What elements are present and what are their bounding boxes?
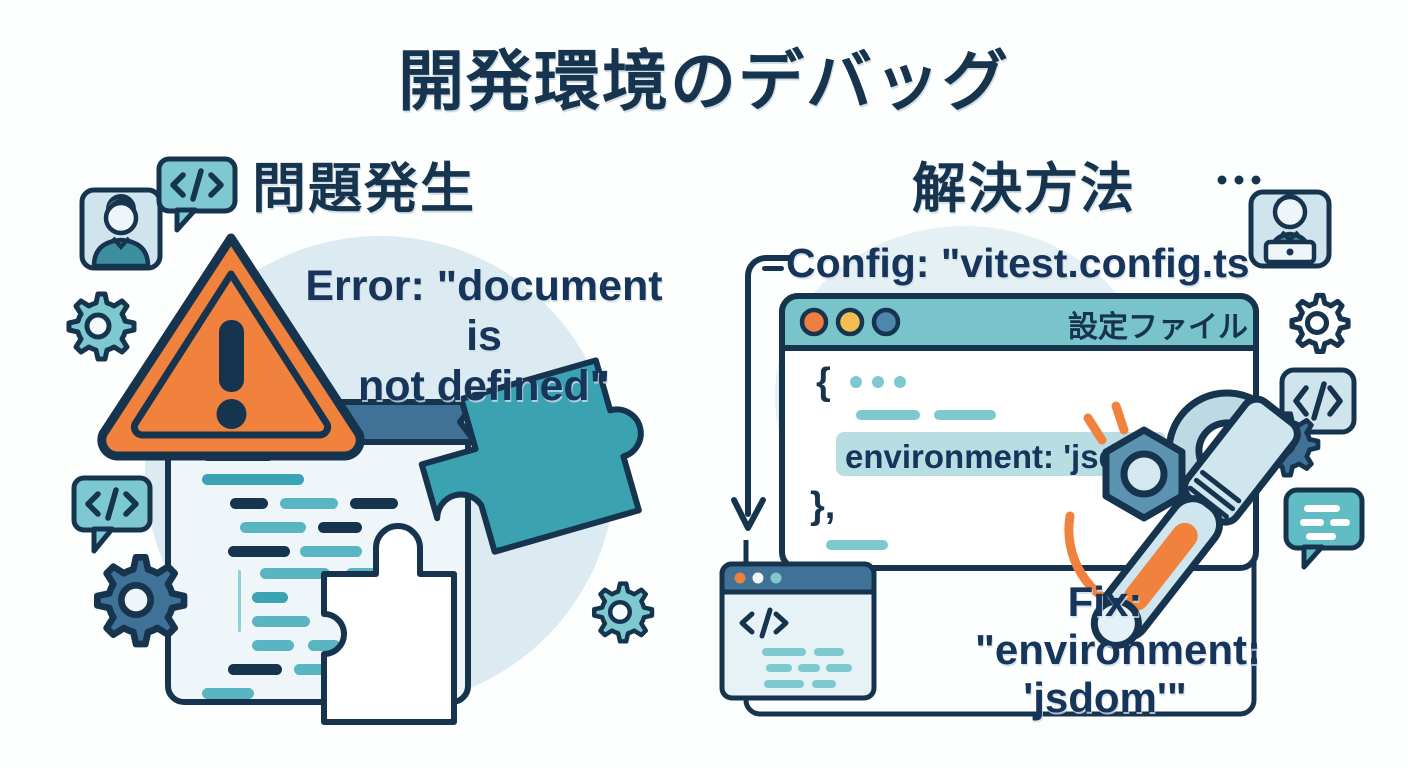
code-speech-bubble-icon — [155, 155, 239, 235]
traffic-light-white[interactable] — [753, 573, 764, 584]
svg-text:},: }, — [810, 485, 835, 527]
config-callout-text: Config: "vitest.config.ts" — [786, 240, 1269, 288]
gear-icon — [1286, 292, 1348, 354]
page-title: 開発環境のデバッグ — [0, 28, 1408, 124]
code-speech-bubble-icon — [70, 474, 154, 556]
error-callout-text: Error: "document is not defined" — [296, 262, 672, 412]
fix-callout-text: Fix: "environment: 'jsdom'" — [975, 578, 1235, 722]
editor-window-title: 設定ファイル — [1068, 302, 1248, 346]
bolt-nut-icon — [1106, 430, 1182, 518]
ellipsis-icon — [1216, 172, 1262, 188]
developer-laptop-avatar-icon — [1246, 180, 1334, 270]
traffic-light-teal[interactable] — [771, 573, 782, 584]
svg-text:{: { — [816, 361, 831, 403]
gear-icon — [588, 580, 652, 644]
section-heading-solution: 解決方法 — [912, 144, 1136, 223]
config-dash — [762, 266, 784, 271]
traffic-light-red[interactable] — [735, 573, 746, 584]
traffic-light-blue[interactable] — [874, 310, 898, 334]
infographic-canvas: 開発環境のデバッグ 問題発生 解決方法 — [0, 0, 1408, 768]
gear-icon — [62, 290, 134, 362]
traffic-light-yellow[interactable] — [838, 310, 862, 334]
user-avatar-icon — [78, 186, 164, 272]
traffic-light-red[interactable] — [802, 310, 826, 334]
preview-browser-window[interactable] — [718, 560, 878, 702]
gear-icon — [88, 552, 184, 648]
